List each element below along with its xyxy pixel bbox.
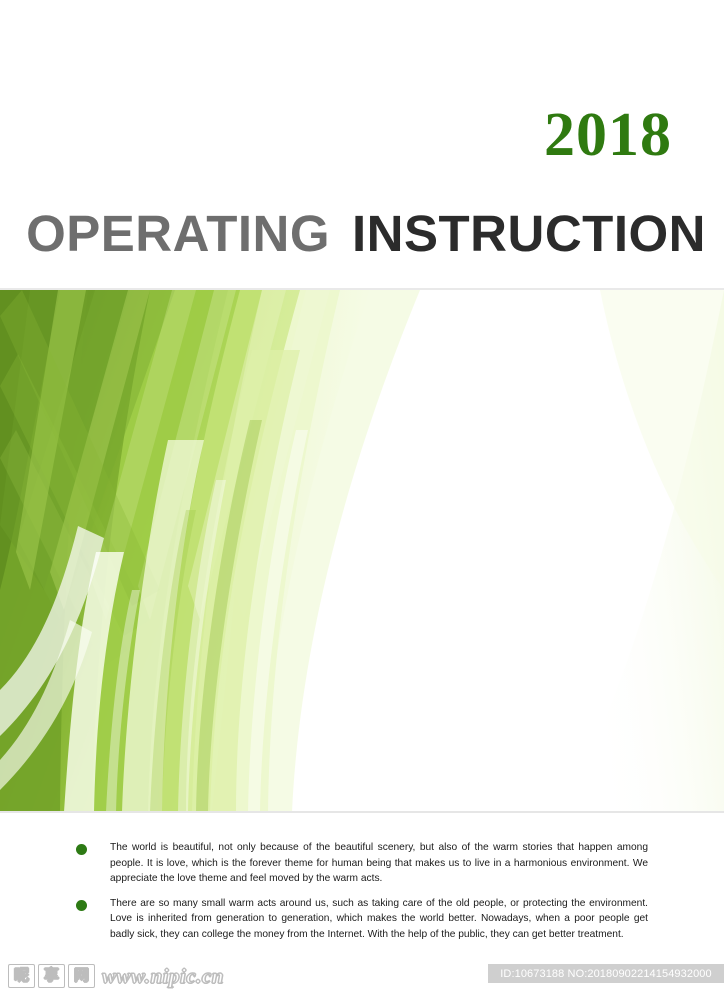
hero-artwork: [0, 290, 724, 812]
bullet-dot-icon: [76, 844, 87, 855]
page-title-primary: OPERATING: [26, 205, 330, 262]
poster-page: 2018 OPERATINGINSTRUCTION: [0, 0, 724, 993]
list-item-text: The world is beautiful, not only because…: [110, 840, 648, 887]
watermark-logo: 昵 享 网: [8, 964, 95, 988]
page-title: OPERATINGINSTRUCTION: [26, 206, 706, 262]
watermark-char-1: 昵: [8, 964, 35, 988]
watermark-char-2: 享: [38, 964, 65, 988]
page-title-secondary: INSTRUCTION: [352, 205, 706, 262]
hero-divider: [0, 811, 724, 813]
bullet-dot-icon: [76, 900, 87, 911]
site-watermark: 昵 享 网 www.nipic.cn: [8, 963, 224, 989]
watermark-id-bar: ID:10673188 NO:20180902214154932000: [488, 964, 724, 983]
watermark-char-3: 网: [68, 964, 95, 988]
year-label: 2018: [544, 104, 672, 166]
watermark-id-text: ID:10673188 NO:20180902214154932000: [500, 968, 711, 980]
list-item-text: There are so many small warm acts around…: [110, 896, 648, 943]
poster-header: 2018 OPERATINGINSTRUCTION: [0, 0, 724, 289]
list-item: The world is beautiful, not only because…: [0, 840, 724, 887]
watermark-url: www.nipic.cn: [102, 964, 224, 989]
abstract-green-ribbon-waves-icon: [0, 290, 724, 812]
list-item: There are so many small warm acts around…: [0, 896, 724, 943]
body-copy: The world is beautiful, not only because…: [0, 840, 724, 952]
